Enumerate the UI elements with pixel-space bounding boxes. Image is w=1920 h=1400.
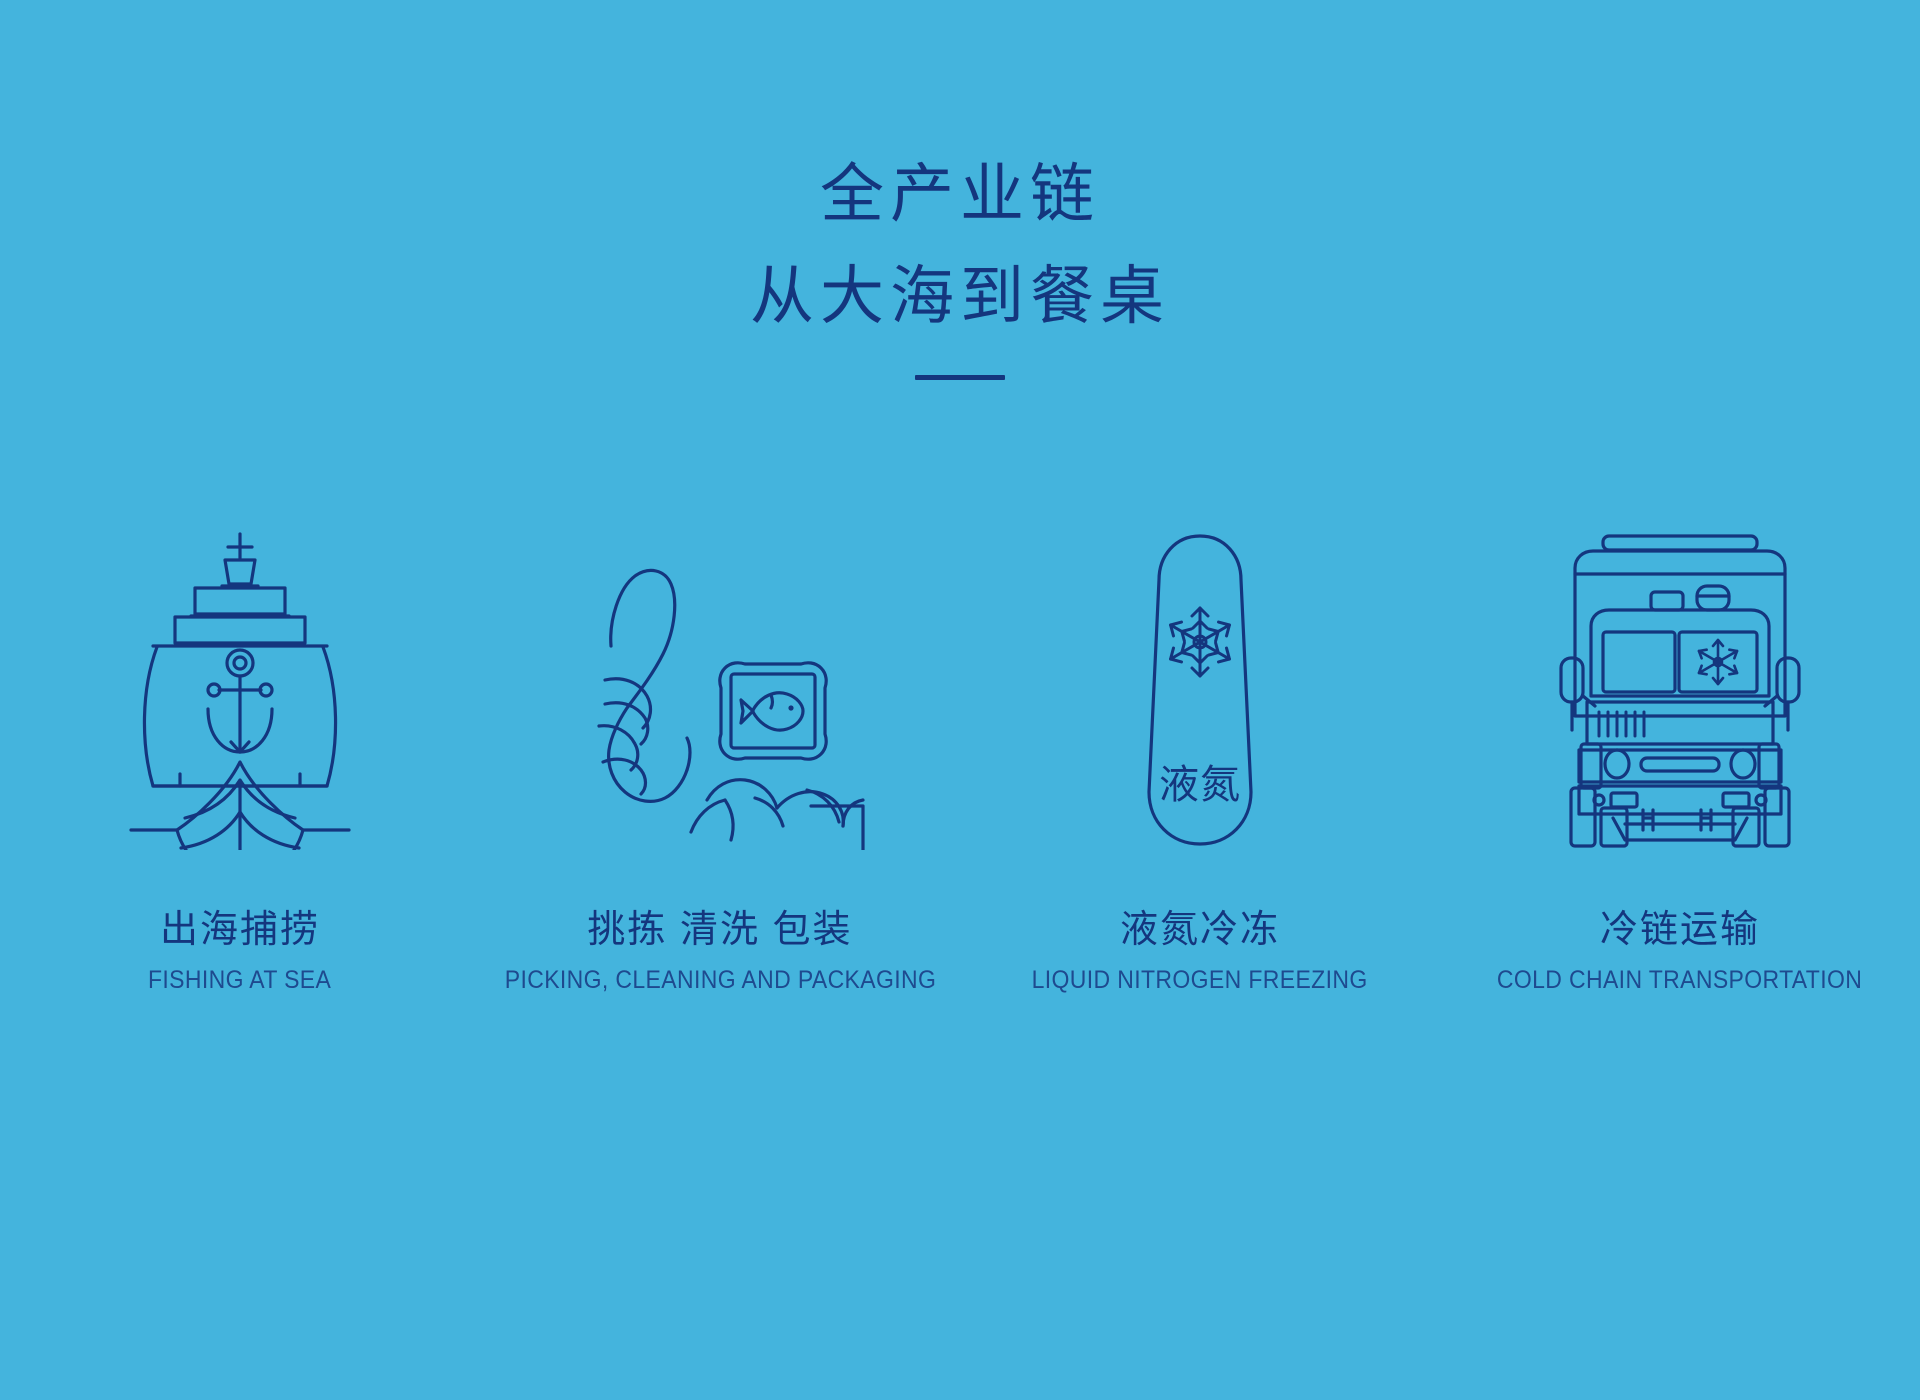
step-label-en: PICKING, CLEANING AND PACKAGING	[504, 966, 935, 995]
tank-label: 液氮	[1159, 763, 1241, 807]
title-divider-wrap	[0, 375, 1920, 380]
step-picking-cleaning-packaging: 挑拣 清洗 包装 PICKING, CLEANING AND PACKAGING	[480, 520, 960, 995]
step-label-en: FISHING AT SEA	[148, 966, 331, 995]
liquid-nitrogen-tank-icon: 液氮	[1135, 530, 1265, 850]
step-labels: 挑拣 清洗 包装 PICKING, CLEANING AND PACKAGING	[486, 910, 955, 995]
hands-holding-packaged-fish-icon	[575, 550, 865, 850]
step-label-en: COLD CHAIN TRANSPORTATION	[1497, 966, 1862, 995]
fishing-boat-with-anchor-icon	[125, 530, 355, 850]
header: 全产业链 从大海到餐桌	[0, 0, 1920, 380]
step-label-cn: 液氮冷冻	[1017, 910, 1382, 952]
step-liquid-nitrogen-freezing: 液氮 液氮冷冻 LIQUID NITROGEN FREEZING	[960, 520, 1440, 995]
step-labels: 出海捕捞 FISHING AT SEA	[140, 910, 339, 995]
icon-box: 液氮	[1135, 520, 1265, 850]
page-title-line-2: 从大海到餐桌	[0, 265, 1920, 329]
step-labels: 液氮冷冻 LIQUID NITROGEN FREEZING	[1017, 910, 1382, 995]
step-label-cn: 挑拣 清洗 包装	[486, 910, 955, 952]
step-labels: 冷链运输 COLD CHAIN TRANSPORTATION	[1481, 910, 1878, 995]
icon-box	[575, 520, 865, 850]
poster-canvas: 全产业链 从大海到餐桌	[0, 0, 1920, 1400]
page-title-line-1: 全产业链	[0, 163, 1920, 227]
process-steps-row: 出海捕捞 FISHING AT SEA	[0, 520, 1920, 995]
title-divider	[915, 375, 1005, 380]
step-label-en: LIQUID NITROGEN FREEZING	[1032, 966, 1368, 995]
step-fishing-at-sea: 出海捕捞 FISHING AT SEA	[0, 520, 480, 995]
step-cold-chain-transportation: 冷链运输 COLD CHAIN TRANSPORTATION	[1440, 520, 1920, 995]
refrigerated-truck-icon	[1555, 530, 1805, 850]
step-label-cn: 冷链运输	[1481, 910, 1878, 952]
step-label-cn: 出海捕捞	[140, 910, 339, 952]
icon-box	[125, 520, 355, 850]
icon-box	[1555, 520, 1805, 850]
